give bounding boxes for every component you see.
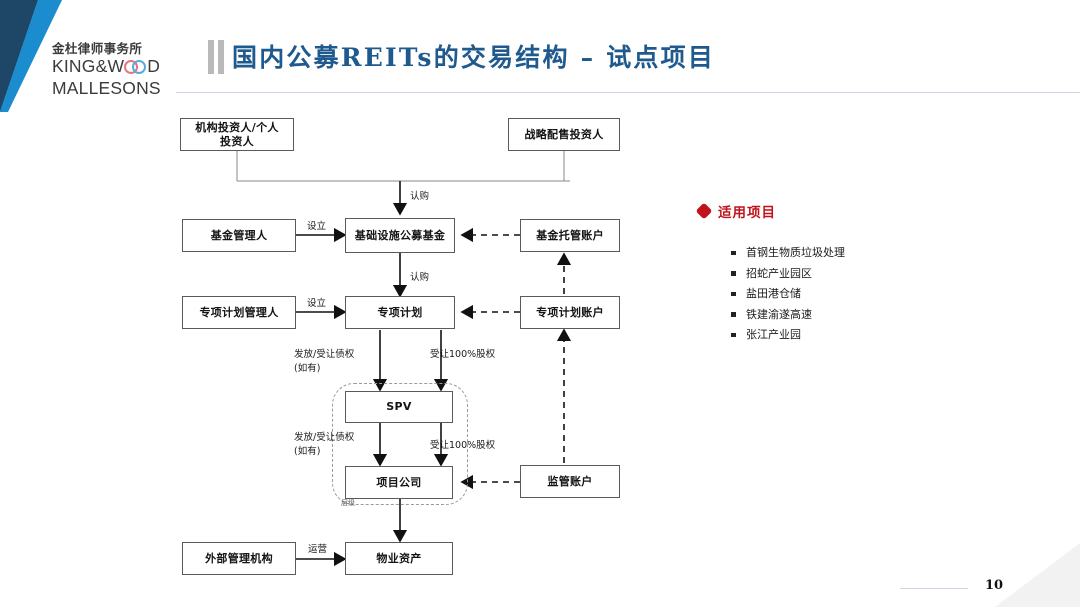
node-fund-custody-account[interactable]: 基金托管账户 [520,219,620,252]
list-item: 盐田港仓储 [730,285,845,302]
edge-label-establish-plan: 设立 [307,298,326,310]
node-project-company[interactable]: 项目公司 [345,466,453,499]
node-spv[interactable]: SPV [345,391,453,423]
node-plan-account[interactable]: 专项计划账户 [520,296,620,329]
node-fund-manager-label: 基金管理人 [211,229,268,243]
node-strategic-investors-label: 战略配售投资人 [524,128,603,142]
node-plan-manager[interactable]: 专项计划管理人 [182,296,296,329]
corner-decoration [965,543,1080,607]
node-project-company-label: 项目公司 [376,476,421,490]
edge-label-equity-2: 受让100%股权 [430,440,495,452]
edge-label-grant-credit-2: 发放/受让债权 [294,432,354,444]
footer-divider [900,588,968,589]
node-fund-manager[interactable]: 基金管理人 [182,219,296,252]
node-plan-account-label: 专项计划账户 [536,306,604,320]
list-item: 张江产业园 [730,326,845,343]
list-item: 首钢生物质垃圾处理 [730,244,845,261]
list-item: 铁建渝遂高速 [730,306,845,323]
node-public-fund[interactable]: 基础设施公募基金 [345,218,455,253]
node-special-plan[interactable]: 专项计划 [345,296,455,329]
node-special-plan-label: 专项计划 [377,306,422,320]
node-fund-custody-account-label: 基金托管账户 [536,229,604,243]
applicable-projects-list: 首钢生物质垃圾处理 招蛇产业园区 盐田港仓储 铁建渝遂高速 张江产业园 [730,244,845,347]
edge-label-equity-1: 受让100%股权 [430,349,495,361]
edge-label-subscribe-fund: 认购 [410,191,429,203]
edge-label-operate: 运营 [308,544,327,556]
edge-label-grant-credit-1-sub: (如有) [294,363,320,375]
node-supervision-account[interactable]: 监管账户 [520,465,620,498]
node-plan-manager-label: 专项计划管理人 [199,306,278,320]
edge-label-grant-credit-1: 发放/受让债权 [294,349,354,361]
node-strategic-investors[interactable]: 战略配售投资人 [508,118,620,151]
node-external-manager-label: 外部管理机构 [205,552,273,566]
applicable-projects-title: 适用项目 [718,201,776,221]
slide-canvas: 金杜律师事务所 KING&WD MALLESONS 国内公募REITs的交易结构… [0,0,1080,607]
node-external-manager[interactable]: 外部管理机构 [182,542,296,575]
edge-label-establish-fund: 设立 [307,221,326,233]
node-public-fund-label: 基础设施公募基金 [355,229,445,243]
edge-label-layer-note: 层级 [341,497,355,509]
node-supervision-account-label: 监管账户 [547,475,592,489]
node-investors-label: 机构投资人/个人 投资人 [195,121,278,149]
transaction-structure-diagram: 机构投资人/个人 投资人 战略配售投资人 基金管理人 基础设施公募基金 基金托管… [0,0,1080,607]
node-investors[interactable]: 机构投资人/个人 投资人 [180,118,294,151]
node-spv-label: SPV [386,400,411,414]
list-item: 招蛇产业园区 [730,265,845,282]
edge-label-subscribe-plan: 认购 [410,272,429,284]
node-property-asset-label: 物业资产 [376,552,421,566]
edge-label-grant-credit-2-sub: (如有) [294,446,320,458]
node-property-asset[interactable]: 物业资产 [345,542,453,575]
